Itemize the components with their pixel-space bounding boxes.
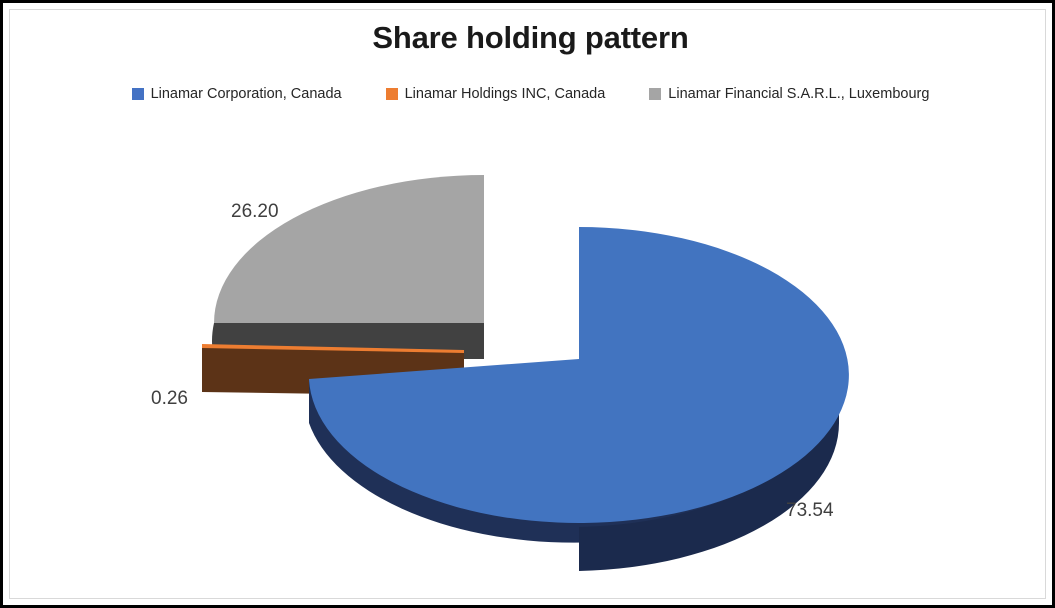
data-label-linamar-holdings: 0.26 (151, 388, 188, 410)
pie-3d-svg (3, 3, 1055, 608)
data-label-linamar-corporation: 73.54 (786, 500, 834, 522)
pie-slice-grey-top (214, 175, 484, 323)
data-label-linamar-financial: 26.20 (231, 201, 279, 223)
chart-frame: Share holding pattern Linamar Corporatio… (0, 0, 1055, 608)
pie-chart-plot: 26.20 0.26 73.54 (3, 3, 1055, 608)
